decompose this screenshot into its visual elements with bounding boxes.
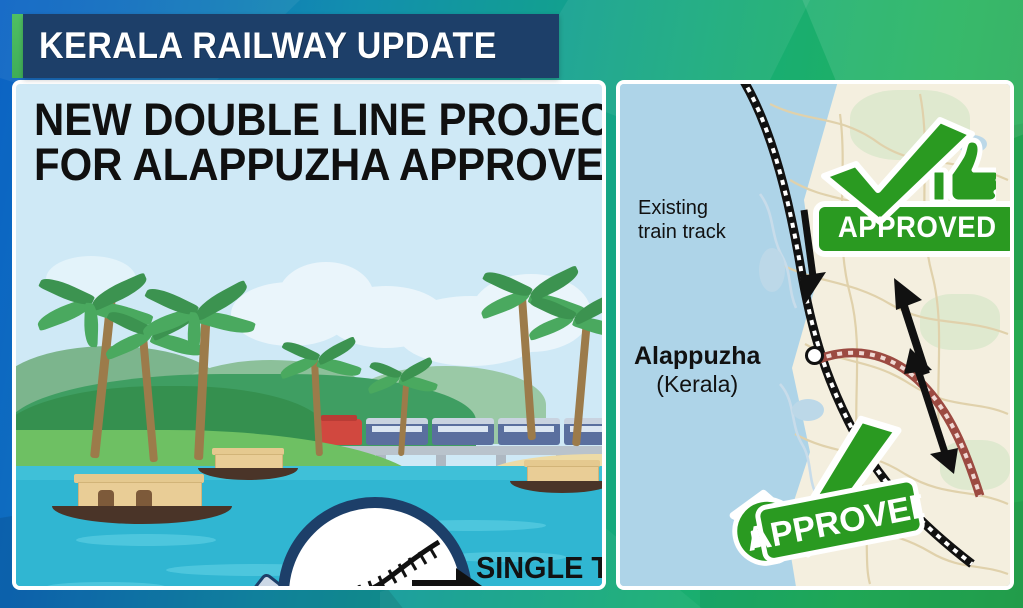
infographic-root: KERALA RAILWAY UPDATE NEW DOUBLE LINE PR…	[0, 0, 1023, 608]
left-panel: NEW DOUBLE LINE PROJECT FOR ALAPPUZHA AP…	[16, 84, 602, 586]
locomotive	[316, 419, 362, 445]
headline-line-1: NEW DOUBLE LINE PROJECT	[34, 98, 555, 143]
coach-roof	[432, 418, 494, 424]
header-title: KERALA RAILWAY UPDATE	[39, 25, 497, 67]
existing-track-label: Existing train track	[638, 196, 726, 244]
city-label: Alappuzha (Kerala)	[634, 342, 760, 398]
existing-track-label-line-1: Existing	[638, 196, 726, 220]
city-marker	[805, 346, 824, 365]
water-ripple	[46, 582, 166, 586]
water-ripple	[76, 534, 216, 546]
right-arrow-icon	[412, 566, 484, 586]
headline-line-2: FOR ALAPPUZHA APPROVED	[34, 143, 555, 188]
header-banner: KERALA RAILWAY UPDATE	[23, 14, 559, 78]
coach-roof	[564, 418, 602, 424]
coach-window	[438, 426, 488, 432]
header-accent-bar	[12, 14, 23, 78]
headline: NEW DOUBLE LINE PROJECT FOR ALAPPUZHA AP…	[34, 98, 594, 187]
right-panel-map: Existing train track Alappuzha (Kerala) …	[620, 84, 1010, 586]
city-state: (Kerala)	[634, 371, 760, 398]
magnifier-caption: SINGLE TO DOUBLE LINE	[476, 552, 602, 586]
approved-badge-top: APPROVED	[816, 112, 1010, 254]
existing-track-label-line-2: train track	[638, 220, 726, 244]
approved-badge-text: APPROVED	[838, 211, 997, 245]
coach-roof	[366, 418, 428, 424]
approved-badge-box: APPROVED	[816, 204, 1010, 254]
city-name: Alappuzha	[634, 342, 760, 371]
caption-line-2: DOUBLE LINE	[476, 584, 602, 586]
coach-window	[372, 426, 422, 432]
caption-line-1: SINGLE TO	[476, 552, 602, 584]
locomotive-roof	[321, 415, 357, 421]
